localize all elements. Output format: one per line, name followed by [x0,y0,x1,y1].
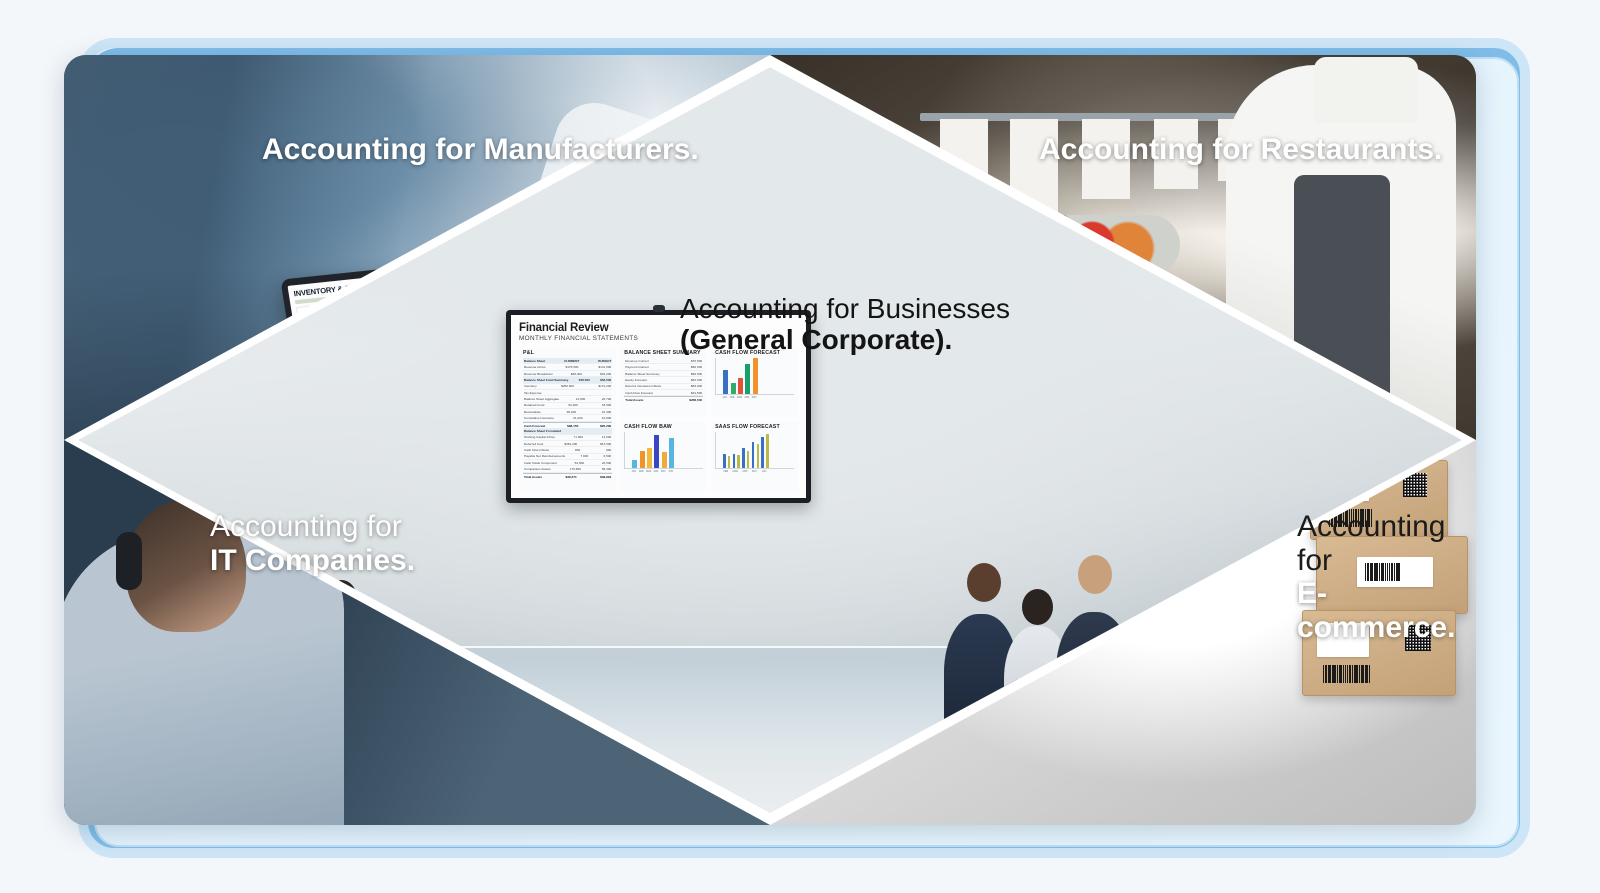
saas-flow-forecast-bars [715,432,794,469]
saas-flow-forecast-labels: FEB MAR APR MAY JUN [715,470,794,473]
camera-icon [653,305,665,312]
table-total-row: Total Assets $268,540 [624,396,703,402]
title-center-line2: (General Corporate). [680,324,1010,355]
cash-flow-baw-labels: JANFEB MARAPR MAYJUN [624,470,703,473]
title-manufacturers: Accounting for Manufacturers. [262,133,699,167]
title-it-line1: Accounting for [210,510,415,544]
card-title: CASH FLOW BAW [624,424,703,430]
cash-flow-forecast-labels: JANFEB MARAPR MAY [715,396,794,399]
title-it-companies: Accounting for IT Companies. [210,510,415,577]
presentation-grid: P&L Balance Sheet CURRENT BUDGET Revenue… [519,347,798,491]
card-cash-flow-forecast: CASH FLOW FORECAST JANFEB [711,347,798,417]
title-center: Accounting for Businesses (General Corpo… [680,293,1010,356]
attendee-head [1078,555,1112,594]
card-title: SAAS FLOW FORECAST [715,424,794,430]
title-ecom-line2: E-commerce. [1297,577,1476,644]
attendee-head [1022,589,1053,625]
card-balance-sheet-summary: BALANCE SHEET SUMMARY Revenue Current$76… [620,347,707,417]
table-row: Cash Forecast$98,150$95,290 [523,422,612,428]
collage-card: INVENTORY & COGS DASHBOARD MATERIAL COST… [64,55,1476,825]
card-title: P&L [523,350,612,356]
presentation-middle-column: BALANCE SHEET SUMMARY Revenue Current$76… [620,347,707,491]
presentation-right-column: CASH FLOW FORECAST JANFEB [711,347,798,491]
cash-flow-forecast-bars [715,358,794,395]
poster-stage: INVENTORY & COGS DASHBOARD MATERIAL COST… [0,0,1600,893]
barcode-icon [1323,665,1415,683]
table-row: Total Assets$39,271$39,894 [523,473,612,479]
card-cash-flow-baw: CASH FLOW BAW JAN [620,421,707,491]
attendee-head [967,563,1001,602]
title-it-line2: IT Companies. [210,544,415,578]
headset-icon [116,532,142,590]
title-ecommerce: Accounting for E-commerce. [1297,510,1476,644]
card-pl: P&L Balance Sheet CURRENT BUDGET Revenue… [519,347,616,491]
cash-flow-baw-bars [624,432,703,469]
title-center-line1: Accounting for Businesses [680,293,1010,324]
card-saas-flow-forecast: SAAS FLOW FORECAST FEB [711,421,798,491]
title-restaurants: Accounting for Restaurants. [1039,133,1442,167]
chef-hat [1314,57,1418,123]
title-ecom-line1: Accounting for [1297,510,1476,577]
